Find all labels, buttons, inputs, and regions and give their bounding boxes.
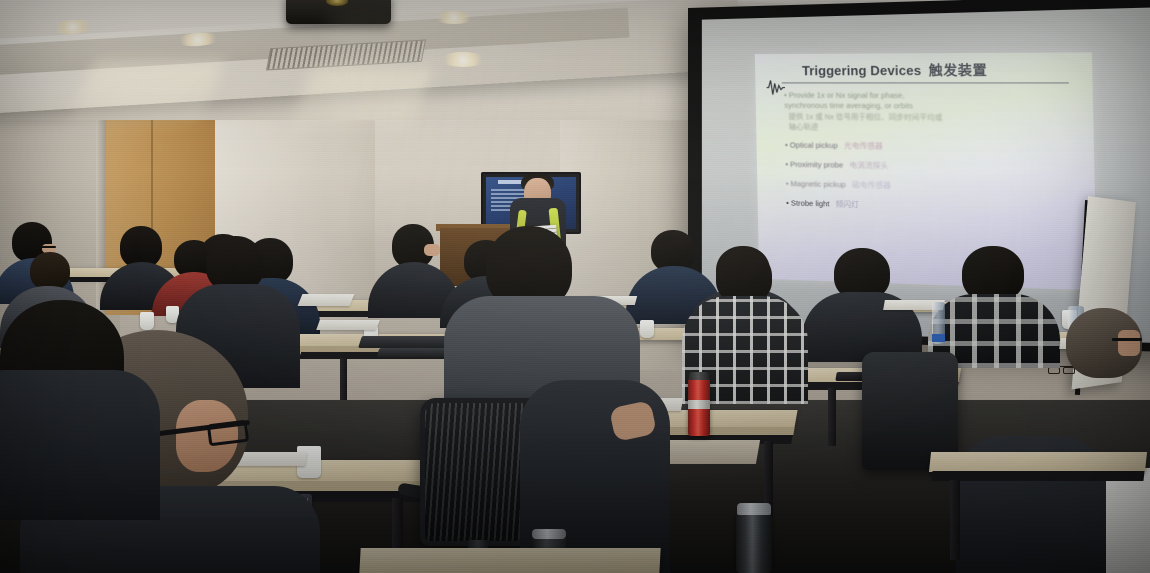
steel-thermos bbox=[736, 512, 772, 573]
bullet-optical-label: • Optical pickup bbox=[785, 140, 838, 150]
laptop bbox=[358, 336, 452, 348]
attendee-torso bbox=[0, 370, 160, 520]
desk-row-front-right bbox=[929, 452, 1147, 472]
bullet-strobe-cn: 频闪灯 bbox=[836, 199, 859, 209]
bullet-magnetic-label: • Magnetic pickup bbox=[786, 179, 846, 189]
desk-leg bbox=[950, 480, 960, 560]
desk-leg bbox=[340, 358, 347, 400]
slide-bullet-optical: • Optical pickup光电传感器 bbox=[785, 140, 1083, 154]
slide-bullet-proximity: • Proximity probe电涡流探头 bbox=[785, 159, 1083, 174]
slide-bullet-strobe: • Strobe light频闪灯 bbox=[786, 198, 1084, 215]
glasses-icon bbox=[1112, 338, 1142, 341]
desk-leg bbox=[828, 388, 836, 446]
desk-frame bbox=[931, 471, 1144, 481]
bullet-optical-cn: 光电传感器 bbox=[844, 141, 883, 151]
thermos-cap bbox=[532, 529, 566, 539]
slide-bullet-magnetic: • Magnetic pickup磁电传感器 bbox=[786, 179, 1084, 195]
red-thermos bbox=[688, 378, 710, 436]
attendee-face bbox=[424, 244, 440, 256]
slide-bullet-main-l4: 轴心轨迹 bbox=[785, 122, 1083, 135]
bullet-strobe-label: • Strobe light bbox=[786, 198, 829, 208]
projector-lens-icon bbox=[326, 0, 348, 6]
paper-cup bbox=[640, 320, 654, 338]
slide-title: Triggering Devices触发装置 bbox=[767, 59, 1081, 79]
bullet-magnetic-cn: 磁电传感器 bbox=[852, 180, 891, 190]
paper-cup bbox=[140, 312, 154, 330]
thermos-band bbox=[688, 400, 710, 409]
classroom-photo: Triggering Devices触发装置 • Provide 1x or N… bbox=[0, 0, 1150, 573]
bullet-proximity-label: • Proximity probe bbox=[785, 159, 843, 169]
desk-row-bottom bbox=[359, 548, 660, 573]
slide-bullet-list: • Provide 1x or Nx signal for phase, syn… bbox=[768, 91, 1084, 215]
bottle-label bbox=[932, 334, 945, 342]
thermos-cap bbox=[737, 503, 771, 515]
thermos-cap bbox=[689, 372, 709, 380]
slide-title-cn: 触发装置 bbox=[929, 62, 988, 78]
slide-title-underline bbox=[782, 82, 1069, 83]
bullet-proximity-cn: 电涡流探头 bbox=[849, 160, 888, 170]
slide-content: Triggering Devices触发装置 • Provide 1x or N… bbox=[755, 52, 1097, 290]
glasses-icon bbox=[40, 246, 56, 248]
slide-title-en: Triggering Devices bbox=[802, 64, 921, 79]
attendee-head bbox=[30, 252, 70, 290]
paper-stack bbox=[316, 320, 380, 330]
paper-stack bbox=[298, 294, 355, 306]
slide-sub-bullets: • Optical pickup光电传感器 • Proximity probe电… bbox=[785, 140, 1084, 215]
attendee-face bbox=[1118, 330, 1140, 356]
